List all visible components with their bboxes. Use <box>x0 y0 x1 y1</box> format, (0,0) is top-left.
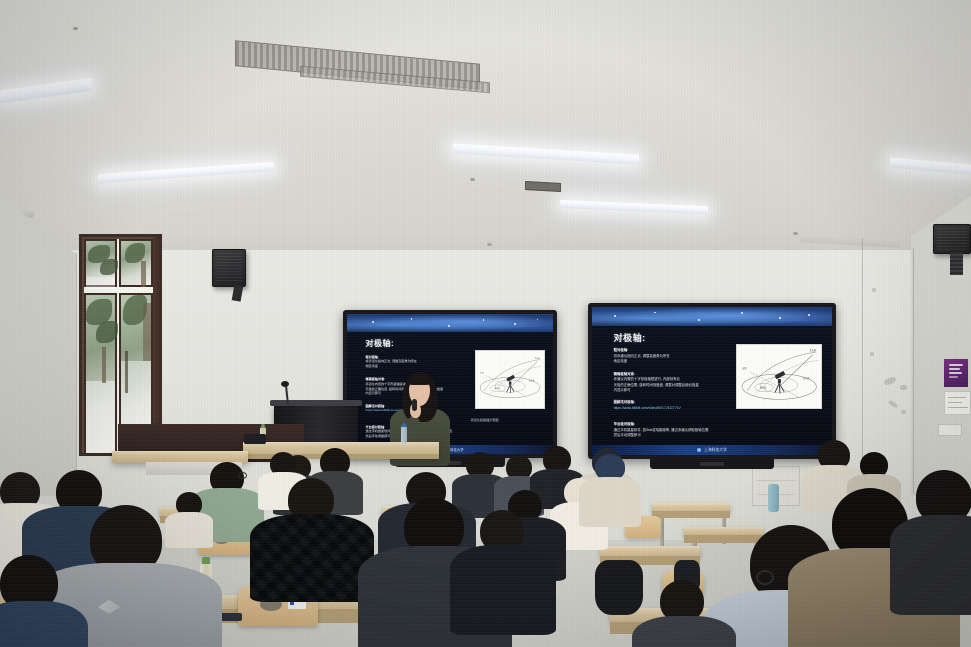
display-right[interactable]: 对极轴: 粗对极轴: 将赤道仪指向正北, 调整高度角为所在 地区纬度 精确极轴对… <box>588 303 836 459</box>
eyeglasses <box>756 570 774 585</box>
wall-scuff-4 <box>901 410 906 414</box>
svg-text:天顶: 天顶 <box>742 366 747 370</box>
laptop-front <box>244 434 266 444</box>
poster-line-1 <box>949 364 963 366</box>
lecturer-fringe <box>408 375 431 385</box>
slide-line: 然后手动调整即可 <box>614 433 710 438</box>
slide-line: 内显示即可 <box>614 388 699 393</box>
student-torso <box>632 616 736 647</box>
backpack <box>595 560 643 615</box>
slide-header-nebula-left <box>347 314 553 332</box>
slide-title-right: 对极轴: <box>614 331 646 344</box>
slide-header-nebula-right <box>592 307 832 326</box>
svg-text:天赤道: 天赤道 <box>803 376 810 380</box>
wall-outlet[interactable] <box>938 424 962 436</box>
window-mullion-right <box>153 237 162 453</box>
slide-block-right-3: 图解法对极轴: https://www.bilibili.com/video/B… <box>614 400 681 411</box>
eyeglasses <box>238 472 247 479</box>
ceiling-light-4 <box>560 200 708 214</box>
desk-apron <box>652 511 730 518</box>
ceiling-sensor-3 <box>487 243 492 246</box>
microphone-capsule <box>281 381 289 387</box>
wall-poster <box>943 358 969 388</box>
speaker-grille-right <box>937 228 967 250</box>
speaker-grille-left <box>216 253 242 283</box>
window-pane-top-right <box>119 239 153 287</box>
student-torso <box>165 512 213 548</box>
poster-line-3 <box>949 372 962 374</box>
water-bottle-presenter <box>401 426 407 444</box>
footer-label: 上海科技大学 <box>704 448 727 453</box>
slide-right: 对极轴: 粗对极轴: 将赤道仪指向正北, 调整高度角为所在 地区纬度 精确极轴对… <box>592 307 832 455</box>
ceiling-light-1 <box>0 78 92 104</box>
student-torso <box>890 515 971 615</box>
wall-speaker-right <box>933 224 971 254</box>
slide-block-right-2: 精确极轴对准: 赤道仪内置的十字形极轴镜进行, 内部刻有北 天极的正确位置, 旋… <box>614 372 699 393</box>
wall-scuff-6 <box>870 352 874 356</box>
slide-title-left: 对极轴: <box>366 338 395 349</box>
svg-text:北天极: 北天极 <box>810 348 817 352</box>
ceiling-sensor-2 <box>73 27 78 30</box>
svg-text:天赤道: 天赤道 <box>529 379 535 383</box>
slide-line: 地区纬度 <box>366 364 417 369</box>
diagram-svg: 北天极 天顶 地平线 天赤道 <box>737 345 821 408</box>
slide-block-right-4: 平台极对极轴: 通过手机摄星软件, 如Star或电脑端等, 通过赤道仪获取极轴位… <box>614 422 710 438</box>
handheld-microphone[interactable] <box>412 399 417 411</box>
ceiling-sensor-1 <box>470 178 475 181</box>
ceiling-sensor-5 <box>793 232 798 235</box>
ceiling-light-2 <box>453 143 639 164</box>
poster-info-sheet <box>944 391 971 415</box>
wall-corner-right <box>862 238 863 488</box>
wall-corner-right-2 <box>913 248 914 493</box>
student-torso <box>579 477 641 527</box>
footer-logo-icon <box>697 448 701 452</box>
wall-corner-left <box>76 253 77 483</box>
slide-block-right-1: 粗对极轴: 将赤道仪指向正北, 调整高度角为所在 地区纬度 <box>614 348 670 364</box>
student-torso <box>450 545 556 635</box>
wall-speaker-left <box>212 249 246 287</box>
poster-line-4 <box>949 376 958 378</box>
bottle-cap <box>402 423 406 427</box>
slide-video-link[interactable]: https://www.bilibili.com/video/BV17J411T… <box>614 406 681 411</box>
svg-text:天顶: 天顶 <box>480 371 484 375</box>
wall-scuff-5 <box>872 288 876 292</box>
celestial-sphere-diagram-left: 北天极 天顶 地平线 天赤道 <box>475 350 545 409</box>
ceiling-fixture-box <box>525 181 561 192</box>
celestial-sphere-diagram-right: 北天极 天顶 地平线 天赤道 <box>736 344 822 409</box>
ceiling-light-3 <box>98 162 274 183</box>
slide-line: 地区纬度 <box>614 359 670 364</box>
student-torso <box>0 601 88 647</box>
window-pane-bottom-left <box>84 293 117 455</box>
lecture-hall-photo: 对极轴: 粗对极轴: 将赤道仪指向正北, 调整高度角为所在 地区纬度 精确极轴对… <box>0 0 971 647</box>
bottle-cap <box>202 557 210 564</box>
podium-top <box>270 400 362 406</box>
bottle-cap <box>261 424 265 428</box>
display-chin-right <box>650 459 774 469</box>
slide-figure-caption-left: 赤道仪和极轴示意图 <box>471 418 499 423</box>
thermos-flask <box>768 484 779 512</box>
display-brand-badge-right <box>700 462 724 466</box>
classroom-window <box>79 234 162 456</box>
window-pane-top-left <box>84 239 117 287</box>
svg-text:北天极: 北天极 <box>534 356 540 360</box>
diagram-svg: 北天极 天顶 地平线 天赤道 <box>476 351 544 408</box>
desk-apron <box>684 535 764 543</box>
ceiling-light-7 <box>800 235 900 247</box>
poster-line-2 <box>949 368 960 370</box>
wall-scuff-2 <box>900 385 907 390</box>
speaker-mount-right <box>950 252 963 275</box>
ceiling-light-5 <box>890 157 971 174</box>
student-torso <box>250 514 374 602</box>
slide-block-left-1: 粗对极轴: 将赤道仪指向正北, 调整高度角为所在 地区纬度 <box>366 355 417 369</box>
slide-footer-right: 上海科技大学 <box>592 445 832 455</box>
